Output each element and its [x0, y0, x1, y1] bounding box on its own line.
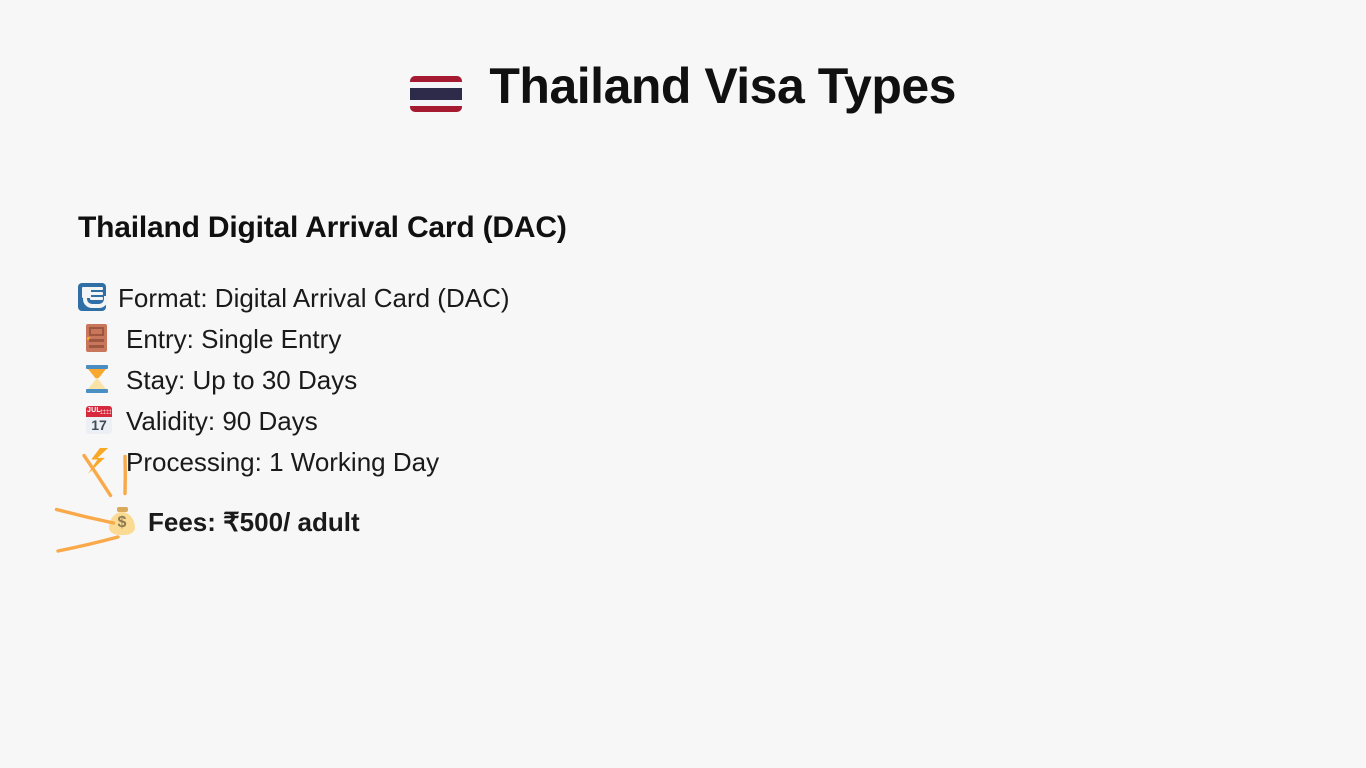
list-item-processing: Processing: 1 Working Day: [78, 442, 1178, 483]
page-title: Thailand Visa Types: [0, 52, 1366, 124]
list-item-fees: $ Fees: ₹500/ adult: [78, 502, 1178, 543]
hourglass-icon: [86, 360, 118, 401]
calendar-month-label: JUL: [87, 406, 101, 416]
visa-spec-list: Format: Digital Arrival Card (DAC) Entry…: [78, 278, 1178, 543]
passport-control-icon: [78, 278, 110, 319]
calendar-day-label: 17: [86, 416, 112, 434]
slide-root: { "slide": { "background_color": "#f7f7f…: [0, 0, 1366, 768]
list-item-validity: JUL 17 Validity: 90 Days: [78, 401, 1178, 442]
page-title-text: Thailand Visa Types: [489, 58, 956, 114]
list-item-label: Stay: Up to 30 Days: [126, 360, 357, 401]
flag-thailand-icon: [410, 56, 462, 124]
list-item-entry: Entry: Single Entry: [78, 319, 1178, 360]
money-bag-symbol: $: [108, 514, 136, 532]
calendar-icon: JUL 17: [86, 401, 118, 442]
money-bag-icon: $: [108, 502, 140, 543]
list-item-label: Fees: ₹500/ adult: [148, 502, 360, 543]
list-item-format: Format: Digital Arrival Card (DAC): [78, 278, 1178, 319]
list-item-label: Validity: 90 Days: [126, 401, 318, 442]
content-block: Thailand Digital Arrival Card (DAC) Form…: [78, 206, 1178, 543]
list-item-label: Entry: Single Entry: [126, 319, 341, 360]
lightning-bolt-icon: [86, 442, 118, 483]
door-icon: [86, 319, 118, 360]
list-item-label: Processing: 1 Working Day: [126, 442, 439, 483]
section-heading: Thailand Digital Arrival Card (DAC): [78, 206, 1178, 250]
list-item-stay: Stay: Up to 30 Days: [78, 360, 1178, 401]
list-item-label: Format: Digital Arrival Card (DAC): [118, 278, 510, 319]
